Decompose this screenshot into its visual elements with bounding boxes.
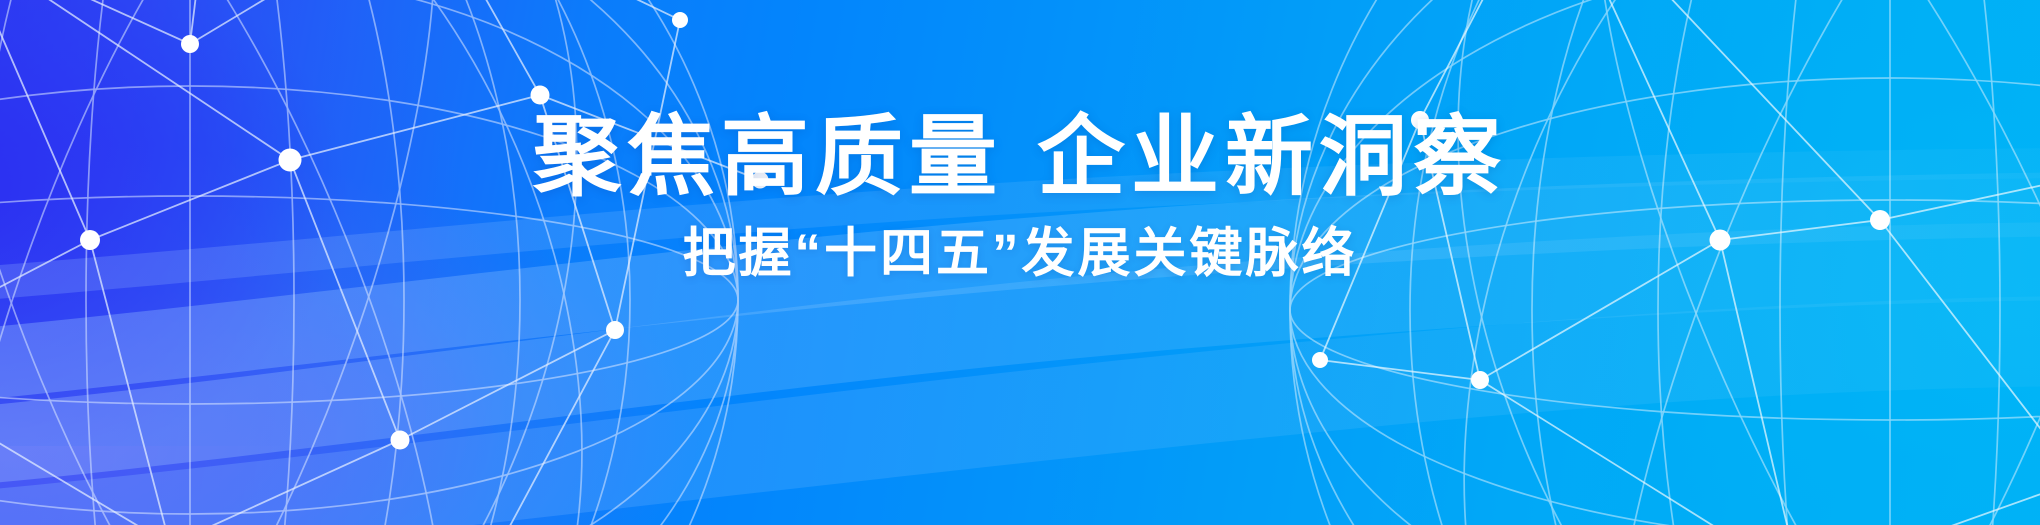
headline-part-1: 聚焦高质量 — [533, 107, 1003, 206]
banner-headline: 聚焦高质量企业新洞察 — [0, 112, 2040, 202]
headline-part-2: 企业新洞察 — [1037, 107, 1507, 206]
promo-banner: 聚焦高质量企业新洞察 把握“十四五”发展关键脉络 — [0, 0, 2040, 525]
banner-text-block: 聚焦高质量企业新洞察 把握“十四五”发展关键脉络 — [0, 112, 2040, 282]
banner-subtitle: 把握“十四五”发展关键脉络 — [0, 226, 2040, 282]
